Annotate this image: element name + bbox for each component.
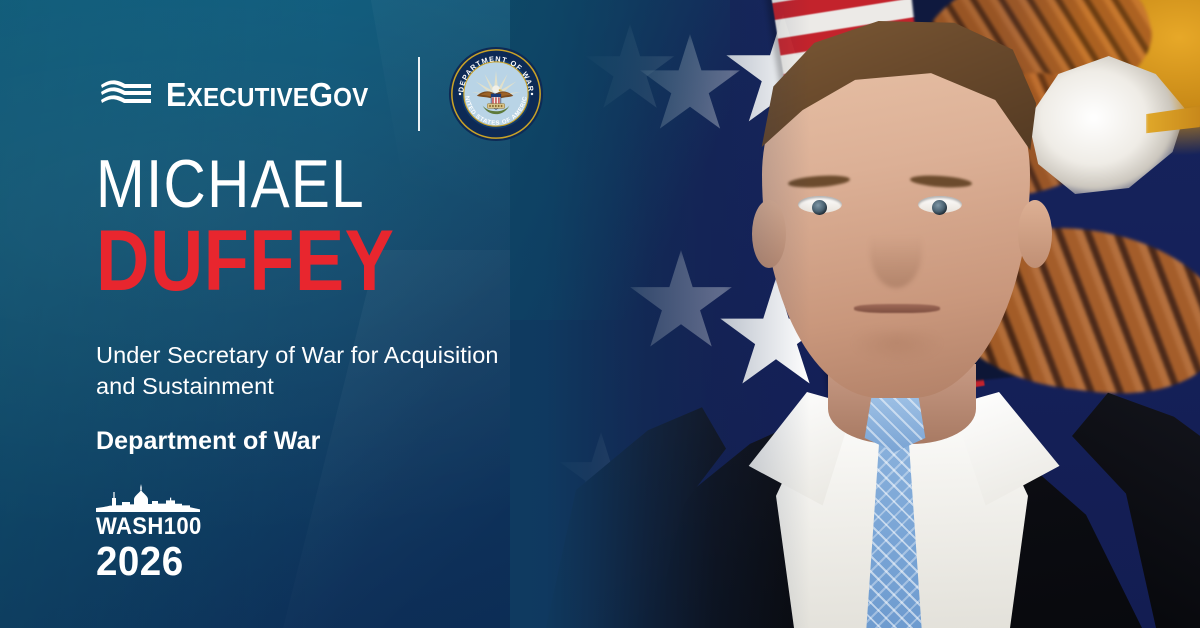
wordmark-ov: OV bbox=[333, 82, 368, 112]
role-block: Under Secretary of War for Acquisition a… bbox=[96, 340, 516, 456]
wave-mark-icon bbox=[100, 77, 152, 111]
brand-bar: EXECUTIVEGOV bbox=[100, 46, 544, 142]
mouth bbox=[854, 304, 940, 313]
wash100-badge[interactable]: WASH100 2026 bbox=[96, 484, 226, 582]
job-title: Under Secretary of War for Acquisition a… bbox=[96, 340, 516, 401]
content-panel: EXECUTIVEGOV bbox=[0, 0, 560, 628]
chin-shadow bbox=[834, 330, 960, 374]
wash100-year: 2026 bbox=[96, 541, 218, 582]
portrait-photo bbox=[510, 0, 1200, 628]
iris-right bbox=[932, 200, 947, 215]
name-block: MICHAEL DUFFEY bbox=[96, 152, 443, 303]
organization: Department of War bbox=[96, 427, 516, 456]
wordmark-xecutive: XECUTIVE bbox=[187, 82, 309, 112]
eye-right bbox=[918, 196, 962, 213]
ear-right bbox=[1018, 200, 1052, 268]
wordmark-cap-g: G bbox=[309, 76, 333, 113]
iris-left bbox=[812, 200, 827, 215]
wash100-announcement-card: EXECUTIVEGOV bbox=[0, 0, 1200, 628]
executivegov-logo[interactable]: EXECUTIVEGOV bbox=[100, 77, 384, 111]
nose bbox=[870, 214, 922, 288]
wash100-label: WASH100 bbox=[96, 515, 216, 539]
dc-skyline-icon bbox=[96, 484, 200, 514]
first-name: MICHAEL bbox=[96, 152, 394, 218]
last-name: DUFFEY bbox=[96, 220, 394, 303]
brand-divider bbox=[418, 57, 420, 131]
department-of-war-seal-icon: DEPARTMENT OF WAR UNITED STATES OF AMERI… bbox=[448, 46, 544, 142]
executivegov-wordmark: EXECUTIVEGOV bbox=[166, 78, 368, 111]
wordmark-cap-e: E bbox=[166, 76, 187, 113]
